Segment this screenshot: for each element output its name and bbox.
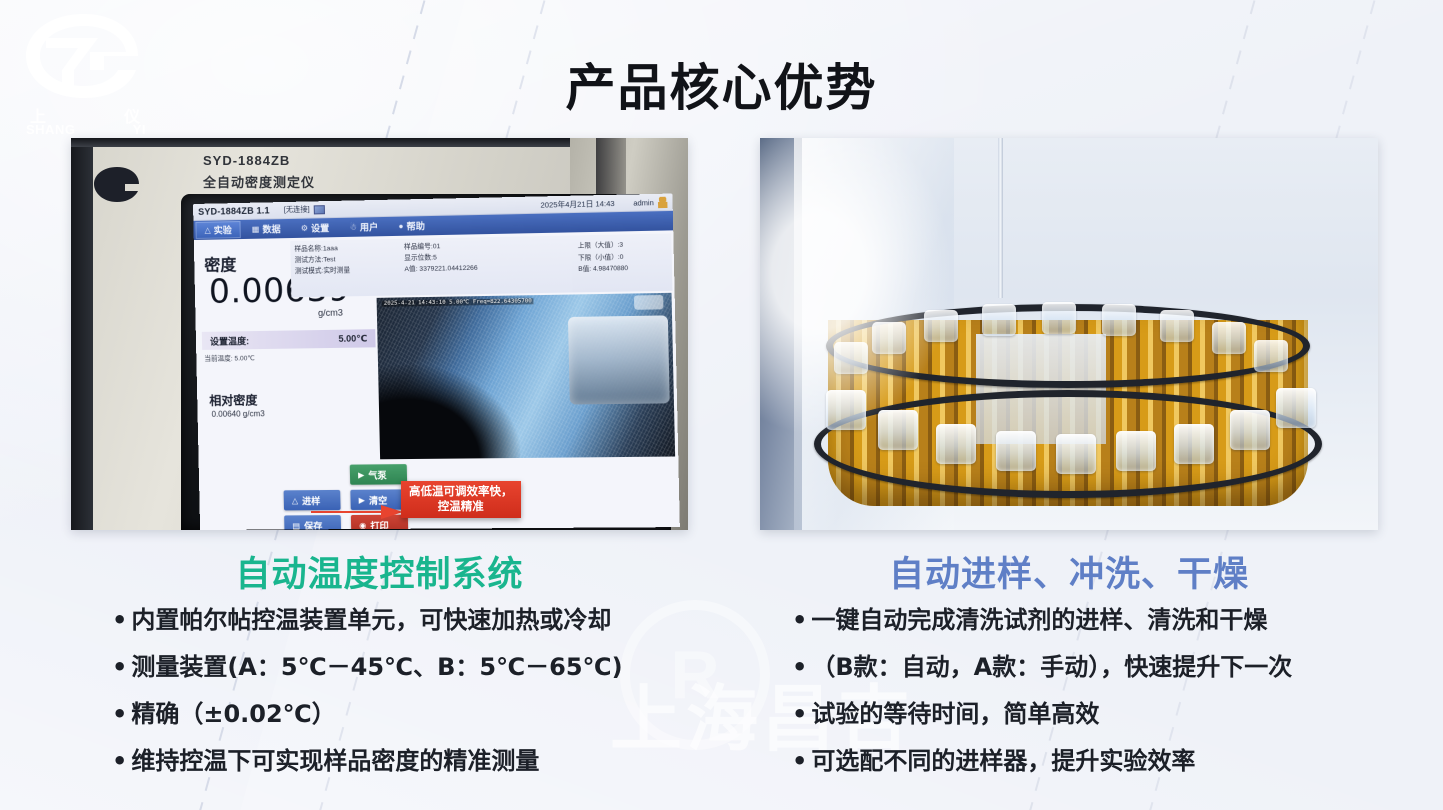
vial-back — [1254, 340, 1288, 372]
list-item-label: 测量装置(A：5℃－45℃、B：5℃－65℃) — [131, 655, 622, 679]
tab-user[interactable]: ☃ 用户 — [340, 218, 387, 236]
list-item-label: 一键自动完成清洗试剂的进样、清洗和干燥 — [811, 608, 1267, 632]
tab-settings[interactable]: ⚙ 设置 — [292, 219, 339, 237]
pump-button-label: 气泵 — [368, 468, 387, 481]
tab-experiment[interactable]: △ 实验 — [195, 221, 241, 239]
feed-shadow — [378, 364, 521, 460]
vial-front — [996, 431, 1036, 471]
bullet-dot-icon: • — [792, 749, 807, 773]
list-item-label: 精确（±0.02℃） — [131, 702, 335, 726]
left-bullet-list: • 内置帕尔帖控温装置单元，可快速加热或冷却 • 测量装置(A：5℃－45℃、B… — [112, 608, 692, 796]
tab-experiment-label: 实验 — [214, 223, 232, 236]
callout-arrow-icon — [311, 505, 403, 519]
vial-back — [1160, 310, 1194, 342]
save-button-label: 保存 — [304, 519, 322, 530]
instrument-model-sub-label: 全自动密度测定仪 — [203, 172, 315, 191]
set-temperature-value: 5.00℃ — [338, 333, 367, 345]
list-item: • 一键自动完成清洗试剂的进样、清洗和干燥 — [792, 608, 1392, 632]
user-avatar-icon — [658, 196, 668, 207]
param-col-2: 样品编号:01 显示位数:5 A值: 3379221.04412266 — [404, 240, 559, 296]
play-icon: ▶ — [359, 495, 365, 504]
list-item-label: 可选配不同的进样器，提升实验效率 — [811, 749, 1195, 773]
screen-bezel: SYD-1884ZB 1.1 [无连接] 2025年4月21日 14:43 ad… — [181, 194, 671, 530]
help-icon: ● — [398, 222, 403, 231]
tab-help[interactable]: ● 帮助 — [389, 217, 434, 235]
vial-front — [936, 424, 976, 464]
screen-datetime: 2025年4月21日 14:43 — [540, 197, 614, 210]
list-item: • 内置帕尔帖控温装置单元，可快速加热或冷却 — [112, 608, 692, 632]
list-item-label: 维持控温下可实现样品密度的精准测量 — [131, 749, 539, 773]
bullet-dot-icon: • — [792, 702, 807, 726]
callout-badge: 高低温可调效率快， 控温精准 — [401, 481, 521, 518]
instrument-logo-icon — [89, 164, 143, 206]
density-unit: g/cm3 — [318, 308, 343, 318]
list-item: • 维持控温下可实现样品密度的精准测量 — [112, 749, 692, 773]
tab-help-label: 帮助 — [406, 219, 425, 233]
vial-front — [1174, 424, 1214, 464]
vial-back — [834, 342, 868, 374]
vial-front — [878, 410, 918, 450]
relative-density-value: 0.00640 g/cm3 — [211, 409, 264, 419]
relative-density-label: 相对密度 — [209, 391, 258, 409]
vial-back — [1102, 304, 1136, 336]
printer-icon: ◉ — [359, 520, 366, 529]
list-item-label: 内置帕尔帖控温装置单元，可快速加热或冷却 — [131, 608, 611, 632]
vial-back — [982, 304, 1016, 336]
screen-connection-status: [无连接] — [284, 204, 310, 215]
lab-rod — [998, 138, 1003, 298]
vial-carousel — [806, 298, 1330, 530]
save-icon: ▤ — [292, 521, 300, 530]
logo-en-text: SHANG YI — [26, 122, 146, 137]
screen-user-label: admin — [633, 198, 654, 208]
pump-button[interactable]: ▶ 气泵 — [350, 464, 407, 485]
play-icon: ▶ — [358, 470, 364, 479]
connection-icon — [314, 205, 325, 214]
list-item-label: 试验的等待时间，简单高效 — [811, 702, 1099, 726]
camera-feed: 2025-4-21 14:43:10 5.00℃ Freq=822.643057… — [377, 293, 676, 459]
bullet-dot-icon: • — [792, 655, 807, 679]
vial-back — [924, 310, 958, 342]
tab-user-label: 用户 — [360, 220, 379, 233]
logo-en-left: SHANG — [26, 122, 75, 137]
right-column-heading: 自动进样、冲洗、干燥 — [760, 546, 1378, 597]
current-temperature: 当前温度: 5.00℃ — [204, 352, 255, 363]
vial-back — [1042, 302, 1076, 334]
table-icon: ▦ — [252, 225, 260, 234]
limits-panel: 上限（大值）:3 下限（小值）:0 B值: 4.98470880 — [571, 233, 672, 292]
right-bullet-list: • 一键自动完成清洗试剂的进样、清洗和干燥 • （B款：自动，A款：手动），快速… — [792, 608, 1392, 796]
instrument-screen[interactable]: SYD-1884ZB 1.1 [无连接] 2025年4月21日 14:43 ad… — [193, 194, 680, 530]
bullet-dot-icon: • — [112, 655, 127, 679]
sample-tube — [568, 315, 670, 404]
bullet-dot-icon: • — [112, 702, 127, 726]
slide-root: 上海昌吉 上 仪 SHANG YI 产品核心优势 SYD-1884ZB 全自动密… — [0, 0, 1443, 810]
vial-front — [1116, 431, 1156, 471]
user-icon: ☃ — [349, 223, 356, 232]
tab-data[interactable]: ▦ 数据 — [243, 220, 290, 238]
bullet-dot-icon: • — [112, 608, 127, 632]
screen-app-title: SYD-1884ZB 1.1 — [198, 205, 270, 217]
vial-front — [826, 390, 866, 430]
list-item: • 可选配不同的进样器，提升实验效率 — [792, 749, 1392, 773]
vial-front — [1276, 388, 1316, 428]
print-button-label: 打印 — [370, 518, 389, 530]
set-temperature-row[interactable]: 设置温度: 5.00℃ — [202, 329, 376, 350]
tab-data-label: 数据 — [262, 222, 280, 235]
beaker-icon: △ — [292, 496, 298, 505]
param-col-1: 样品名称:1aaa 测试方法:Test 测试模式:实时测量 — [294, 243, 405, 297]
feed-highlight — [634, 295, 664, 310]
logo-en-right: YI — [133, 122, 146, 137]
vial-front — [1230, 410, 1270, 450]
vial-front — [1056, 434, 1096, 474]
list-item-label: （B款：自动，A款：手动），快速提升下一次 — [811, 655, 1292, 679]
instrument-photo: SYD-1884ZB 全自动密度测定仪 SYD-1884ZB 1.1 [无连接]… — [71, 138, 688, 530]
bullet-dot-icon: • — [792, 608, 807, 632]
bullet-dot-icon: • — [112, 749, 127, 773]
list-item: • 测量装置(A：5℃－45℃、B：5℃－65℃) — [112, 655, 692, 679]
vial-back — [1212, 322, 1246, 354]
vial-back — [872, 322, 906, 354]
left-column-heading: 自动温度控制系统 — [71, 546, 688, 597]
instrument-model-label: SYD-1884ZB — [203, 153, 290, 168]
flask-icon: △ — [204, 226, 210, 235]
list-item: • 精确（±0.02℃） — [112, 702, 692, 726]
list-item: • （B款：自动，A款：手动），快速提升下一次 — [792, 655, 1392, 679]
page-title: 产品核心优势 — [0, 48, 1443, 120]
tab-settings-label: 设置 — [311, 221, 330, 234]
list-item: • 试验的等待时间，简单高效 — [792, 702, 1392, 726]
autosampler-photo — [760, 138, 1378, 530]
set-temperature-label: 设置温度: — [210, 334, 249, 348]
gear-icon: ⚙ — [301, 224, 308, 233]
